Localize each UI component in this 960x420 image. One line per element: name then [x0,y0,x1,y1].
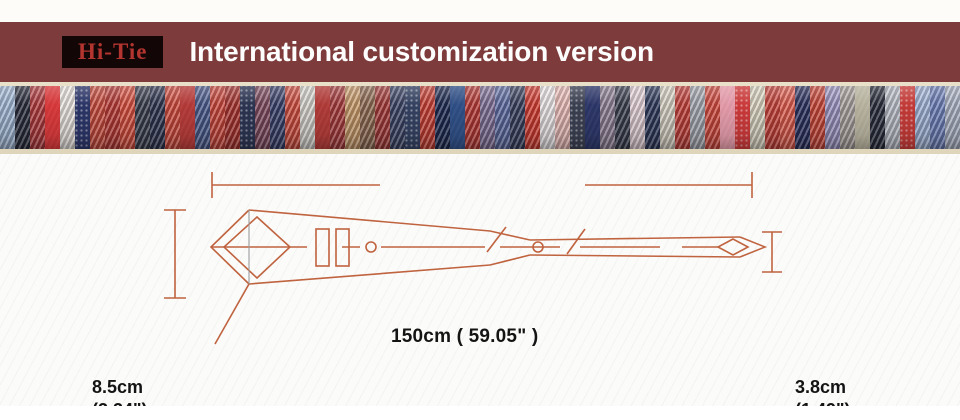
tie-swatch [540,86,555,149]
left-width-cm: 8.5cm [92,376,148,399]
tie-technical-drawing [0,154,960,406]
tie-swatch [555,86,570,149]
tie-swatch [630,86,645,149]
tie-swatch [945,86,960,149]
tie-swatch [240,86,255,149]
tie-swatch [405,86,420,149]
tie-swatch [450,86,465,149]
tie-swatch [840,86,855,149]
tie-swatch [330,86,345,149]
tie-swatch [615,86,630,149]
left-width-inch: (3.34") [92,399,148,406]
tie-swatch [720,86,735,149]
tie-swatch [810,86,825,149]
tie-swatch [570,86,585,149]
tie-swatch [660,86,675,149]
tie-swatch [270,86,285,149]
left-height-dimension [164,210,186,298]
tie-swatch [495,86,510,149]
tie-swatch [315,86,330,149]
tie-swatch [585,86,600,149]
tie-swatch [75,86,90,149]
tie-swatch [105,86,120,149]
tie-swatch [60,86,75,149]
tie-swatch [480,86,495,149]
tie-swatch [750,86,765,149]
tie-swatch [165,86,180,149]
brand-logo-text: Hi-Tie [78,40,147,63]
bottom-white-margin [0,406,960,420]
tie-swatch [15,86,30,149]
tie-swatch [885,86,900,149]
tie-swatch [825,86,840,149]
tie-swatch [210,86,225,149]
tie-swatch [30,86,45,149]
length-label: 150cm ( 59.05" ) [391,326,538,348]
tie-swatch [525,86,540,149]
right-width-label: 3.8cm (1.49") [795,376,851,406]
tie-swatch [150,86,165,149]
header-banner: Hi-Tie International customization versi… [0,22,960,82]
tie-swatch [195,86,210,149]
tie-swatch [180,86,195,149]
tie-swatch [510,86,525,149]
right-width-cm: 3.8cm [795,376,851,399]
tie-swatch [465,86,480,149]
tie-swatch [675,86,690,149]
tie-swatch [735,86,750,149]
tie-swatch [390,86,405,149]
tie-swatch [780,86,795,149]
tie-swatch [360,86,375,149]
tie-swatch [90,86,105,149]
tie-swatch [705,86,720,149]
tie-swatch [285,86,300,149]
left-width-label: 8.5cm (3.34") [92,376,148,406]
tie-swatch [255,86,270,149]
tie-swatch [900,86,915,149]
angle-leader-line [215,284,249,344]
tie-swatch [645,86,660,149]
tie-swatch [420,86,435,149]
tie-swatch [300,86,315,149]
product-banner-image: Hi-Tie International customization versi… [0,0,960,420]
tie-swatch [225,86,240,149]
tie-swatch [930,86,945,149]
tie-swatch [45,86,60,149]
tie-swatch [135,86,150,149]
tie-diagram-panel: 150cm ( 59.05" ) 8.5cm (3.34") 3.8cm (1.… [0,154,960,406]
top-white-margin [0,0,960,22]
right-width-inch: (1.49") [795,399,851,406]
right-height-dimension [762,232,782,272]
tie-swatch [855,86,870,149]
tie-swatch [0,86,15,149]
tie-swatch [870,86,885,149]
tie-swatch [345,86,360,149]
brand-logo: Hi-Tie [62,36,163,68]
tie-swatch [690,86,705,149]
tie-swatch [795,86,810,149]
tie-swatch [765,86,780,149]
tie-photo-strip [0,82,960,154]
tie-swatch [915,86,930,149]
banner-title: International customization version [189,36,653,68]
tie-swatch [120,86,135,149]
tie-swatch [435,86,450,149]
tie-swatch [600,86,615,149]
tie-swatch [375,86,390,149]
length-dimension-line [212,172,752,198]
tie-swatch-row [0,86,960,149]
